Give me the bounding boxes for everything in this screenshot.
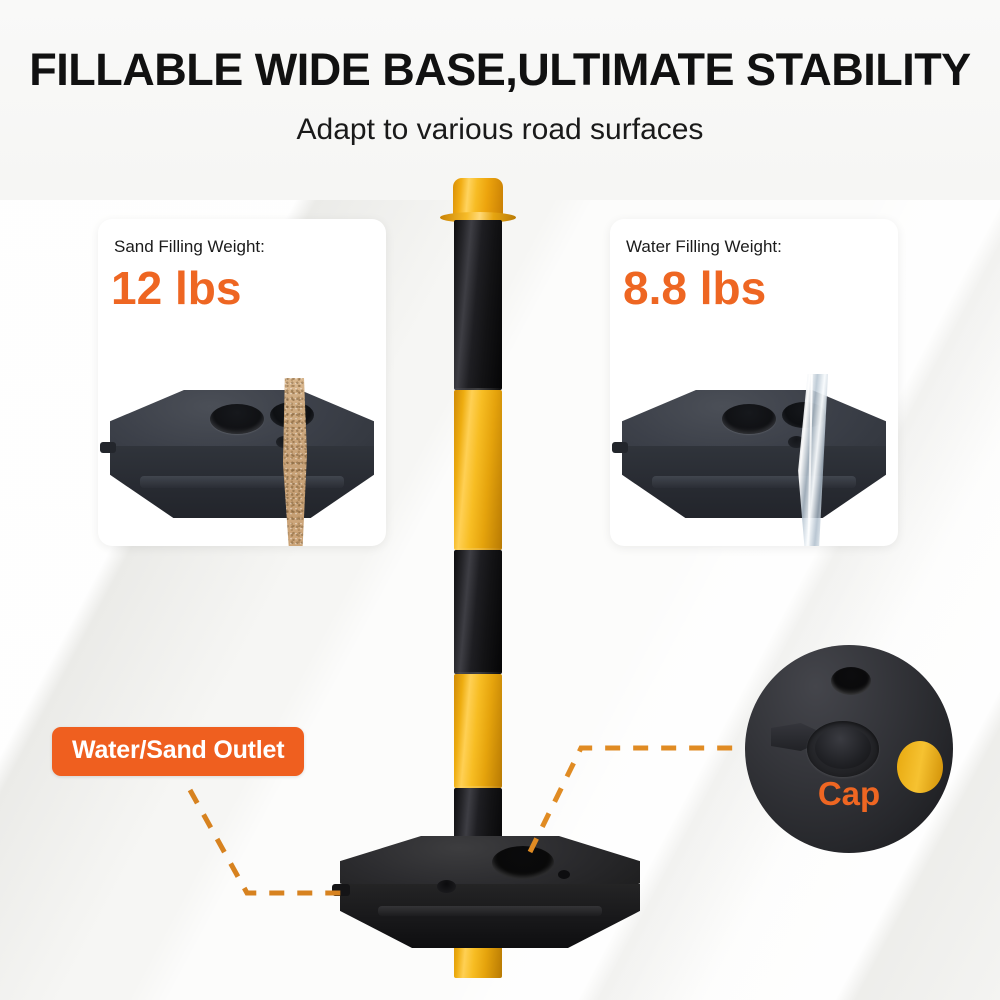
- page-subtitle: Adapt to various road surfaces: [0, 113, 1000, 147]
- main-base-side: [340, 884, 640, 948]
- card-value-water: 8.8 lbs: [623, 261, 766, 315]
- background-top-wash: [0, 0, 1000, 200]
- sand-filled-base-icon: [104, 384, 380, 524]
- base-outlet-plug: [612, 442, 628, 453]
- post-band-black-2: [454, 550, 502, 674]
- main-base-drain-hole: [558, 870, 570, 879]
- post-band-black-1: [454, 220, 502, 390]
- main-octagonal-base-icon: [340, 836, 640, 948]
- cap-vent-hole-icon: [831, 667, 871, 695]
- status-badge-outlet: Water/Sand Outlet: [52, 727, 304, 776]
- water-filled-base-icon: [616, 384, 892, 524]
- striped-post-icon: [448, 178, 508, 868]
- page-title: FILLABLE WIDE BASE,ULTIMATE STABILITY: [0, 44, 1000, 96]
- card-label-sand: Sand Filling Weight:: [114, 237, 265, 257]
- main-base-rim: [378, 906, 602, 916]
- card-label-water: Water Filling Weight:: [626, 237, 782, 257]
- base-post-socket-hole: [722, 404, 776, 434]
- base-rim: [140, 476, 344, 488]
- post-band-yellow-2: [454, 674, 502, 788]
- product-infographic: FILLABLE WIDE BASE,ULTIMATE STABILITY Ad…: [0, 0, 1000, 1000]
- main-base-vent-hole: [437, 880, 456, 893]
- card-sand-filling: Sand Filling Weight: 12 lbs: [98, 219, 386, 546]
- cap-closeup-inset: Cap: [745, 645, 953, 853]
- card-value-sand: 12 lbs: [111, 261, 241, 315]
- cap-label: Cap: [745, 775, 953, 813]
- card-water-filling: Water Filling Weight: 8.8 lbs: [610, 219, 898, 546]
- base-rim: [652, 476, 856, 488]
- cap-disc-inner: [815, 727, 871, 769]
- main-base-outlet-plug: [332, 884, 350, 896]
- main-base-fill-hole: [492, 846, 554, 879]
- post-band-yellow-1: [454, 390, 502, 550]
- base-post-socket-hole: [210, 404, 264, 434]
- base-outlet-plug: [100, 442, 116, 453]
